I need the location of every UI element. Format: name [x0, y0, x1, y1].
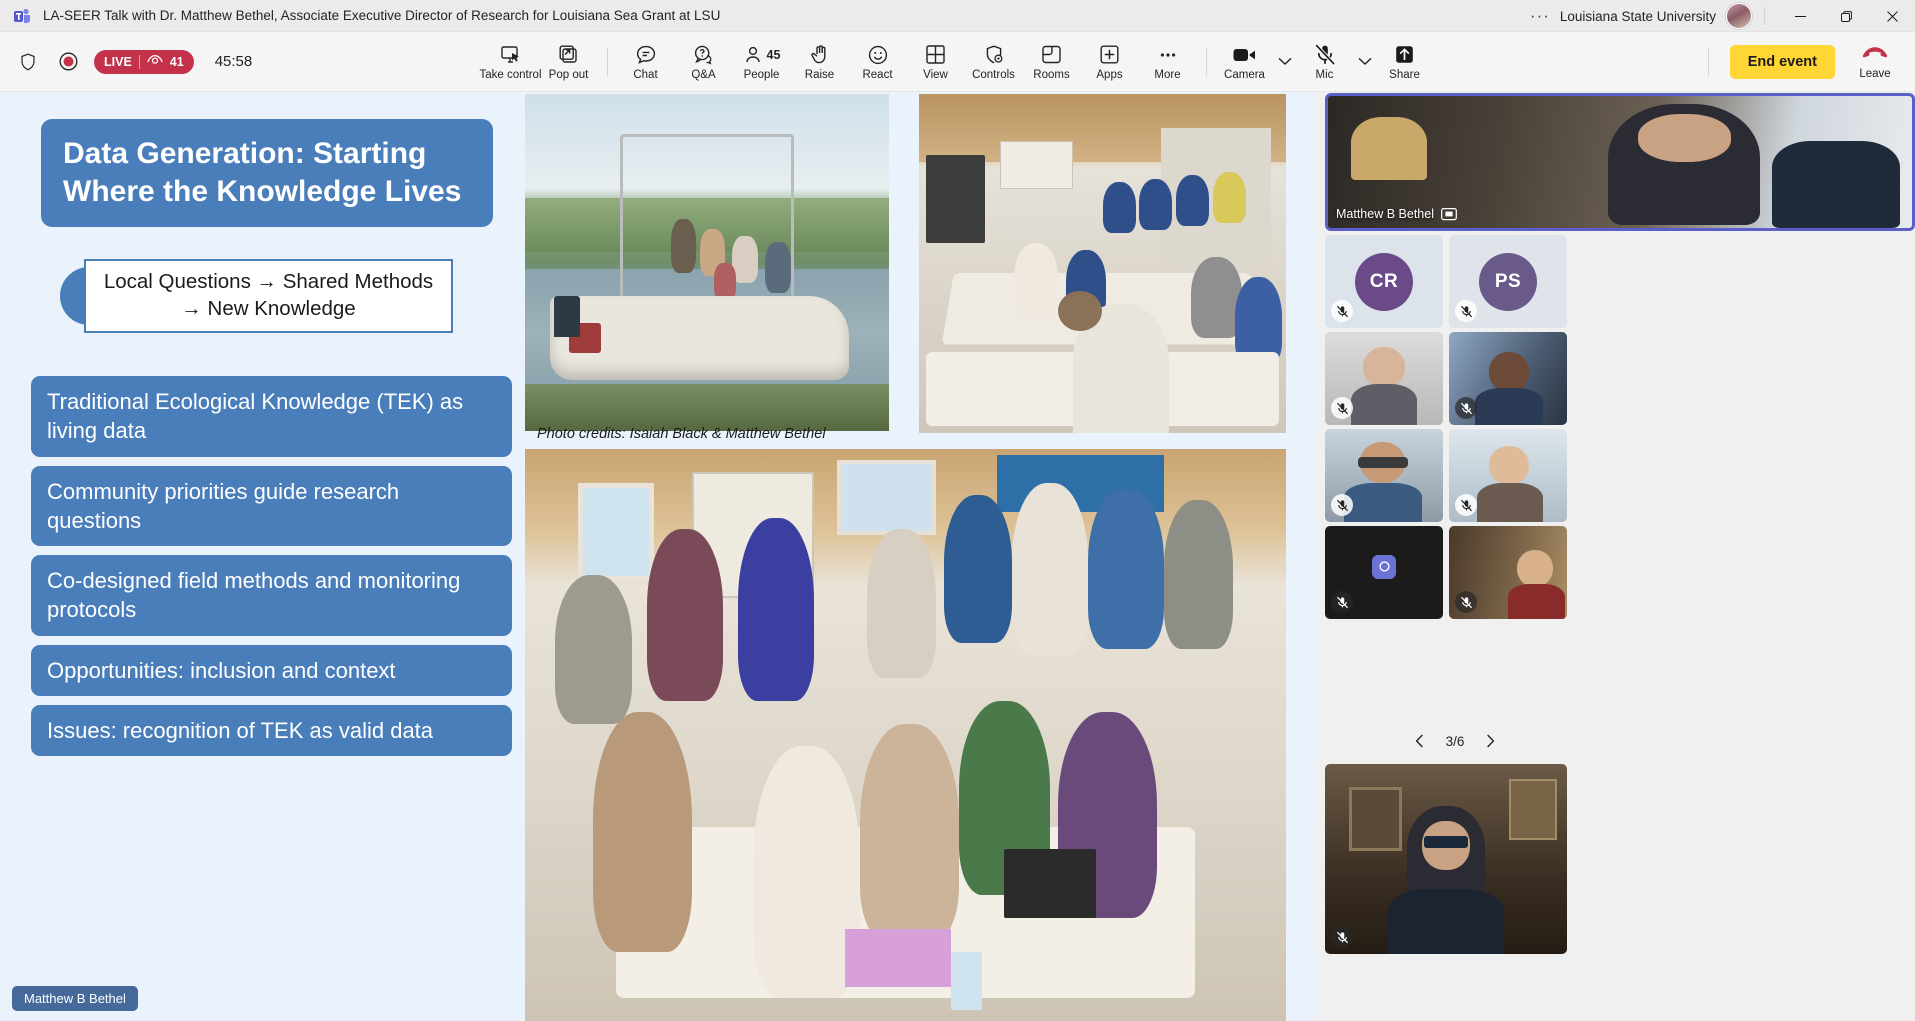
muted-icon — [1331, 926, 1353, 948]
pinned-icon — [1441, 207, 1457, 221]
muted-icon — [1331, 397, 1353, 419]
take-control-icon — [499, 43, 523, 67]
avatar[interactable] — [1726, 3, 1752, 29]
shared-content-area[interactable]: Data Generation: Starting Where the Know… — [0, 92, 1315, 1021]
controls-label: Controls — [972, 69, 1015, 81]
participant-tile[interactable] — [1449, 526, 1567, 619]
muted-icon — [1331, 494, 1353, 516]
take-control-button[interactable]: Take control — [482, 35, 540, 89]
qa-icon — [692, 43, 716, 67]
participant-tile[interactable] — [1325, 332, 1443, 425]
avatar: CR — [1355, 253, 1413, 311]
close-icon[interactable] — [1869, 0, 1915, 32]
divider — [139, 55, 140, 69]
elapsed-timer: 45:58 — [215, 53, 253, 70]
title-bar-right: ··· Louisiana State University — [1520, 0, 1915, 32]
raise-hand-button[interactable]: Raise — [791, 35, 849, 89]
chevron-right-icon[interactable] — [1478, 729, 1502, 753]
mic-button[interactable]: Mic — [1296, 35, 1354, 89]
active-speaker-tile[interactable]: Matthew B Bethel — [1325, 93, 1915, 231]
apps-plus-icon — [1098, 43, 1121, 67]
people-icon: 45 — [743, 43, 781, 67]
camera-label: Camera — [1224, 69, 1265, 81]
share-button[interactable]: Share — [1376, 35, 1434, 89]
bullet-item: Co-designed field methods and monitoring… — [31, 555, 512, 636]
camera-chevron-down-icon[interactable] — [1274, 39, 1296, 85]
slide-title: Data Generation: Starting Where the Know… — [41, 119, 493, 227]
pop-out-icon — [557, 43, 581, 67]
muted-icon — [1455, 591, 1477, 613]
controls-icon — [982, 43, 1006, 67]
muted-icon — [1455, 397, 1477, 419]
rooms-icon — [1040, 43, 1063, 67]
slide-callout: Local Questions → Shared Methods → New K… — [60, 259, 453, 333]
presentation-slide: Data Generation: Starting Where the Know… — [0, 92, 1315, 1021]
slide-photo-boat — [525, 94, 889, 431]
chat-label: Chat — [633, 69, 657, 81]
callout-text: Local Questions → Shared Methods → New K… — [84, 259, 453, 333]
qa-label: Q&A — [691, 69, 715, 81]
live-label: LIVE — [104, 55, 132, 69]
camera-icon — [1232, 43, 1258, 67]
pop-out-button[interactable]: Pop out — [540, 35, 598, 89]
participant-tile[interactable] — [1449, 332, 1567, 425]
shield-icon[interactable] — [14, 48, 42, 76]
chevron-left-icon[interactable] — [1408, 729, 1432, 753]
muted-icon — [1455, 300, 1477, 322]
active-speaker-name-row: Matthew B Bethel — [1336, 207, 1457, 221]
view-label: View — [923, 69, 948, 81]
slide-photo-workshop-large — [525, 449, 1286, 1021]
share-screen-icon — [1393, 43, 1416, 67]
camera-button[interactable]: Camera — [1216, 35, 1274, 89]
live-status-badge: LIVE 41 — [94, 50, 194, 74]
react-button[interactable]: React — [849, 35, 907, 89]
view-button[interactable]: View — [907, 35, 965, 89]
meeting-toolbar: LIVE 41 45:58 Take control Pop out — [0, 32, 1915, 92]
participant-tile[interactable]: CR — [1325, 235, 1443, 328]
raise-hand-icon — [808, 43, 832, 67]
bullet-item: Traditional Ecological Knowledge (TEK) a… — [31, 376, 512, 457]
participant-tile[interactable] — [1325, 764, 1567, 954]
leave-label: Leave — [1859, 68, 1890, 80]
chat-button[interactable]: Chat — [617, 35, 675, 89]
viewer-count: 41 — [170, 55, 184, 69]
bullet-item: Issues: recognition of TEK as valid data — [31, 705, 512, 756]
view-grid-icon — [924, 43, 947, 67]
teams-logo-icon — [13, 7, 31, 25]
bullet-item: Community priorities guide research ques… — [31, 466, 512, 547]
restore-icon[interactable] — [1823, 0, 1869, 32]
muted-icon — [1455, 494, 1477, 516]
bullet-item: Opportunities: inclusion and context — [31, 645, 512, 696]
toolbar-center-cluster: Take control Pop out Chat Q&A 45 — [482, 32, 1434, 92]
pop-out-label: Pop out — [549, 69, 589, 81]
more-label: More — [1154, 69, 1180, 81]
rooms-button[interactable]: Rooms — [1023, 35, 1081, 89]
participant-tile[interactable]: PS — [1449, 235, 1567, 328]
mic-label: Mic — [1316, 69, 1334, 81]
active-speaker-name: Matthew B Bethel — [1336, 207, 1434, 221]
rooms-label: Rooms — [1033, 69, 1069, 81]
divider — [1206, 48, 1207, 76]
leave-button[interactable]: Leave — [1847, 35, 1903, 89]
end-event-button[interactable]: End event — [1730, 45, 1835, 79]
record-icon[interactable] — [54, 48, 82, 76]
divider — [1708, 48, 1709, 76]
avatar: PS — [1479, 253, 1537, 311]
viewer-eye-icon — [147, 54, 163, 69]
people-button[interactable]: 45 People — [733, 35, 791, 89]
apps-label: Apps — [1096, 69, 1122, 81]
hangup-icon — [1861, 43, 1889, 66]
slide-bullet-list: Traditional Ecological Knowledge (TEK) a… — [31, 376, 512, 756]
divider — [607, 48, 608, 76]
share-label: Share — [1389, 69, 1420, 81]
react-icon — [866, 43, 890, 67]
titlebar-overflow-button[interactable]: ··· — [1520, 6, 1560, 26]
people-count: 45 — [767, 48, 781, 62]
more-ellipsis-icon — [1156, 43, 1180, 67]
roster-pager: 3/6 — [1395, 727, 1515, 755]
photo-credits: Photo credits: Isaiah Black & Matthew Be… — [537, 426, 826, 442]
meeting-title: LA-SEER Talk with Dr. Matthew Bethel, As… — [43, 8, 720, 23]
meeting-stage: Data Generation: Starting Where the Know… — [0, 92, 1915, 1021]
mic-chevron-down-icon[interactable] — [1354, 39, 1376, 85]
organization-name: Louisiana State University — [1560, 9, 1726, 24]
slide-photo-workshop-room — [919, 94, 1286, 433]
title-bar: LA-SEER Talk with Dr. Matthew Bethel, As… — [0, 0, 1915, 32]
chat-icon — [634, 43, 658, 67]
raise-label: Raise — [805, 69, 834, 81]
self-participant-label: Matthew B Bethel — [12, 986, 138, 1011]
muted-icon — [1331, 300, 1353, 322]
mic-muted-icon — [1313, 43, 1337, 67]
take-control-label: Take control — [480, 69, 542, 81]
more-button[interactable]: More — [1139, 35, 1197, 89]
apps-button[interactable]: Apps — [1081, 35, 1139, 89]
participant-tile[interactable] — [1449, 429, 1567, 522]
react-label: React — [862, 69, 892, 81]
toolbar-left-cluster: LIVE 41 45:58 — [0, 48, 252, 76]
qa-button[interactable]: Q&A — [675, 35, 733, 89]
muted-icon — [1331, 591, 1353, 613]
minimize-icon[interactable] — [1777, 0, 1823, 32]
participant-tile[interactable] — [1325, 429, 1443, 522]
page-indicator: 3/6 — [1446, 734, 1465, 749]
participant-tile[interactable] — [1325, 526, 1443, 619]
controls-button[interactable]: Controls — [965, 35, 1023, 89]
toolbar-right-cluster: End event Leave — [1699, 32, 1903, 92]
divider — [1764, 7, 1765, 25]
people-label: People — [744, 69, 780, 81]
